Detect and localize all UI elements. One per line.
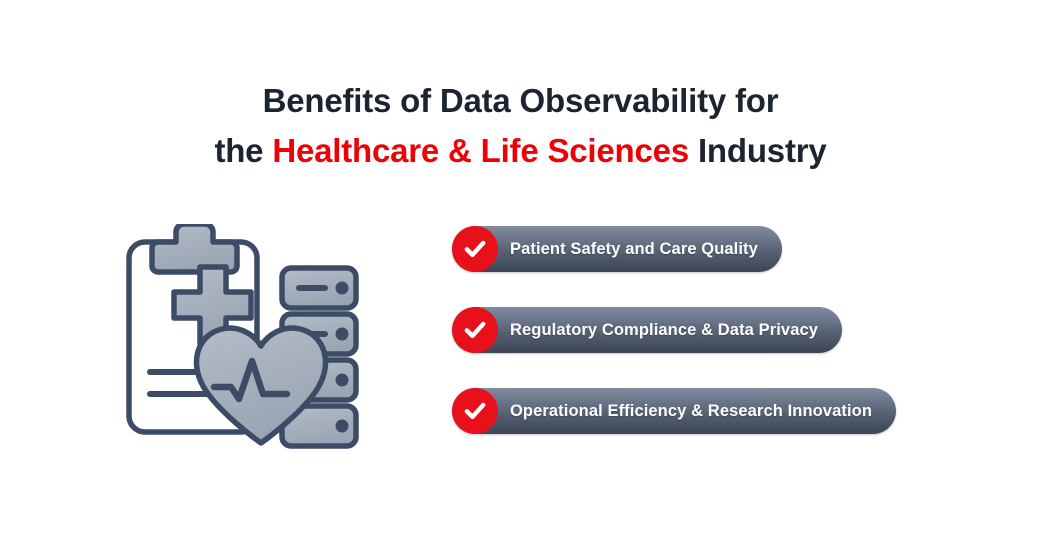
benefit-label: Regulatory Compliance & Data Privacy bbox=[510, 321, 818, 340]
server-dot-1 bbox=[336, 282, 349, 295]
title-line-2-accent: Healthcare & Life Sciences bbox=[272, 132, 689, 169]
title-line-2-prefix: the bbox=[214, 132, 272, 169]
benefit-label: Patient Safety and Care Quality bbox=[510, 240, 758, 259]
server-dash-1 bbox=[296, 285, 328, 291]
benefit-pill-2[interactable]: Regulatory Compliance & Data Privacy bbox=[452, 307, 842, 353]
server-dot-4 bbox=[336, 420, 349, 433]
check-circle-icon bbox=[452, 307, 498, 353]
benefit-label: Operational Efficiency & Research Innova… bbox=[510, 402, 872, 421]
benefit-pill-1[interactable]: Patient Safety and Care Quality bbox=[452, 226, 782, 272]
healthcare-data-illustration bbox=[118, 224, 368, 450]
title-line-2-suffix: Industry bbox=[689, 132, 827, 169]
page-title: Benefits of Data Observability for the H… bbox=[0, 76, 1041, 176]
title-line-2: the Healthcare & Life Sciences Industry bbox=[0, 126, 1041, 176]
server-dot-2 bbox=[336, 328, 349, 341]
server-dot-3 bbox=[336, 374, 349, 387]
benefit-pill-3[interactable]: Operational Efficiency & Research Innova… bbox=[452, 388, 896, 434]
infographic-canvas: Benefits of Data Observability for the H… bbox=[0, 0, 1041, 540]
benefits-list: Patient Safety and Care Quality Regulato… bbox=[452, 226, 1012, 469]
title-line-1: Benefits of Data Observability for bbox=[0, 76, 1041, 126]
check-circle-icon bbox=[452, 226, 498, 272]
check-circle-icon bbox=[452, 388, 498, 434]
